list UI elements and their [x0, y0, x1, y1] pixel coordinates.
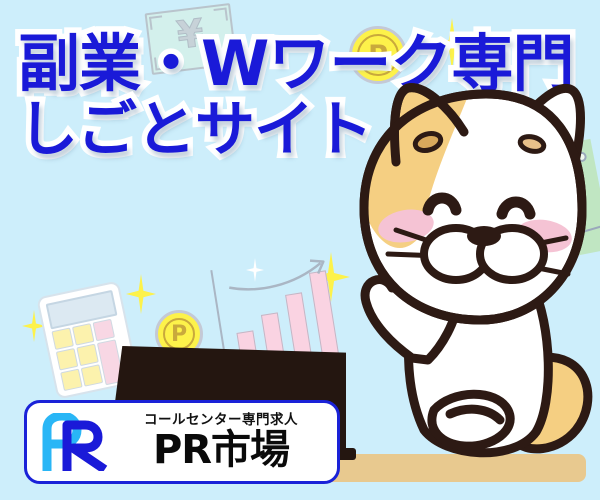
coin-p-symbol: P [163, 318, 195, 350]
calculator-key [56, 348, 79, 371]
logo-text-block: コールセンター専門求人 PR市場 [113, 414, 337, 471]
pr-monogram-icon [37, 413, 113, 471]
logo-name: PR市場 [153, 430, 289, 470]
banner-root: ¥ P P [0, 0, 600, 500]
calculator-key [92, 319, 115, 342]
logo-tagline: コールセンター専門求人 [144, 414, 298, 428]
sparkle-icon [126, 274, 156, 314]
calculator-key [72, 323, 95, 346]
calculator-key [60, 369, 83, 392]
calculator-key [51, 327, 74, 350]
pr-ichiba-logo[interactable]: コールセンター専門求人 PR市場 [24, 400, 340, 484]
pr-logo-mark-icon [37, 413, 113, 471]
calculator-key [81, 364, 104, 387]
calculator-key [76, 344, 99, 367]
